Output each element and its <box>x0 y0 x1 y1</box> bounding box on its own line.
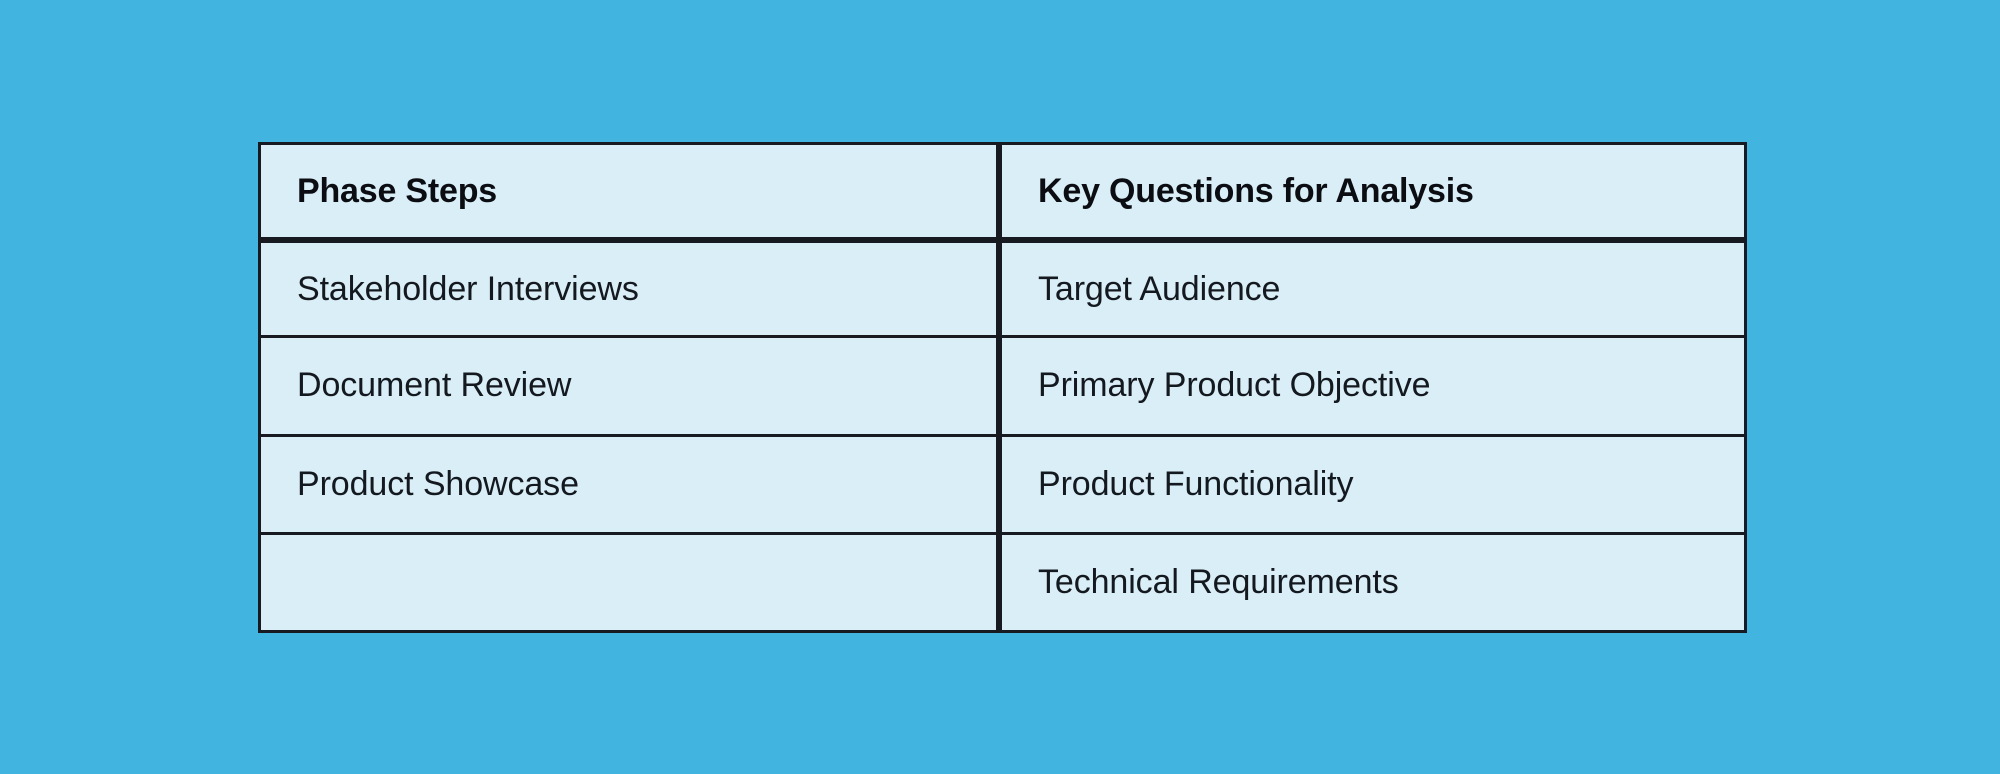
cell-key-question: Technical Requirements <box>999 535 1747 633</box>
table-container: Phase Steps Key Questions for Analysis S… <box>258 142 1747 633</box>
table-row: Technical Requirements <box>258 535 1747 633</box>
table-row: Document Review Primary Product Objectiv… <box>258 338 1747 436</box>
table-row: Stakeholder Interviews Target Audience <box>258 240 1747 338</box>
column-header-phase-steps: Phase Steps <box>258 142 999 240</box>
phase-steps-key-questions-table: Phase Steps Key Questions for Analysis S… <box>258 142 1747 633</box>
cell-phase-step: Product Showcase <box>258 437 999 535</box>
cell-phase-step: Document Review <box>258 338 999 436</box>
table-row: Product Showcase Product Functionality <box>258 437 1747 535</box>
cell-phase-step: Stakeholder Interviews <box>258 240 999 338</box>
table-header: Phase Steps Key Questions for Analysis <box>258 142 1747 240</box>
column-header-key-questions: Key Questions for Analysis <box>999 142 1747 240</box>
table-body: Stakeholder Interviews Target Audience D… <box>258 240 1747 633</box>
table-header-row: Phase Steps Key Questions for Analysis <box>258 142 1747 240</box>
page-canvas: Phase Steps Key Questions for Analysis S… <box>0 0 2000 774</box>
cell-key-question: Target Audience <box>999 240 1747 338</box>
cell-key-question: Primary Product Objective <box>999 338 1747 436</box>
cell-key-question: Product Functionality <box>999 437 1747 535</box>
cell-phase-step-empty <box>258 535 999 633</box>
